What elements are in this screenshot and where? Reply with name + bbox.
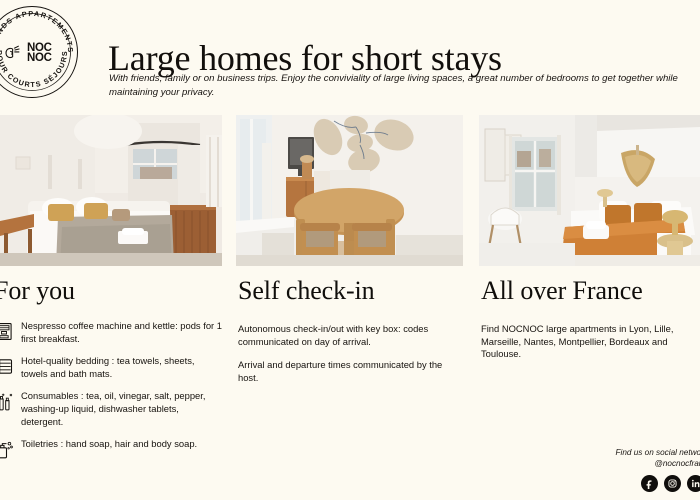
list-item: Hotel-quality bedding : tea towels, shee… xyxy=(0,355,222,380)
social-icon-row xyxy=(512,475,700,492)
column-paragraph: Autonomous check-in/out with key box: co… xyxy=(238,323,460,348)
soap-dispenser-icon xyxy=(0,439,14,460)
column-title-all-over-france: All over France xyxy=(481,266,700,306)
feature-text: Toiletries : hand soap, hair and body so… xyxy=(21,438,197,451)
page-subtitle: With friends, family or on business trip… xyxy=(109,72,694,100)
folded-linen-icon xyxy=(0,356,14,377)
column-all-over-france: All over France Find NOCNOC large apartm… xyxy=(481,266,700,372)
linkedin-icon[interactable] xyxy=(687,475,700,492)
header: GRANDS APPARTEMENTS POUR COURTS SÉJOURS … xyxy=(0,0,700,115)
feature-text: Nespresso coffee machine and kettle: pod… xyxy=(21,320,222,345)
column-self-check-in: Self check-in Autonomous check-in/out wi… xyxy=(238,266,460,395)
photo-bedroom-beige xyxy=(0,115,222,266)
column-paragraph: Arrival and departure times communicated… xyxy=(238,359,460,384)
feature-list: Nespresso coffee machine and kettle: pod… xyxy=(0,320,222,460)
photo-bedroom-terracotta xyxy=(479,115,700,266)
photo-strip xyxy=(0,115,700,266)
instagram-icon[interactable] xyxy=(664,475,681,492)
column-paragraph: Find NOCNOC large apartments in Lyon, Li… xyxy=(481,323,700,361)
column-title-self-check-in: Self check-in xyxy=(238,266,460,306)
consumables-bottles-icon xyxy=(0,391,14,412)
list-item: Nespresso coffee machine and kettle: pod… xyxy=(0,320,222,345)
logo-wordmark-line2: NOC xyxy=(27,53,52,64)
social-caption: Find us on social networks xyxy=(512,447,700,458)
photo-dining-room xyxy=(236,115,463,266)
knocking-hand-door-icon xyxy=(3,42,24,64)
feature-text: Hotel-quality bedding : tea towels, shee… xyxy=(21,355,222,380)
content-columns: For you Nespresso coffee machine and ket… xyxy=(0,266,700,500)
column-for-you: For you Nespresso coffee machine and ket… xyxy=(0,266,222,470)
facebook-icon[interactable] xyxy=(641,475,658,492)
logo-wordmark: NOC NOC xyxy=(27,43,52,64)
brochure-page: GRANDS APPARTEMENTS POUR COURTS SÉJOURS … xyxy=(0,0,700,500)
social-block: Find us on social networks @nocnocfrance xyxy=(512,447,700,492)
list-item: Toiletries : hand soap, hair and body so… xyxy=(0,438,222,460)
feature-text: Consumables : tea, oil, vinegar, salt, p… xyxy=(21,390,222,428)
column-title-for-you: For you xyxy=(0,266,222,306)
coffee-machine-icon xyxy=(0,321,14,342)
list-item: Consumables : tea, oil, vinegar, salt, p… xyxy=(0,390,222,428)
nocnoc-logo[interactable]: GRANDS APPARTEMENTS POUR COURTS SÉJOURS … xyxy=(0,6,86,106)
social-handle: @nocnocfrance xyxy=(512,458,700,469)
logo-wordmark-group: NOC NOC xyxy=(3,40,65,66)
